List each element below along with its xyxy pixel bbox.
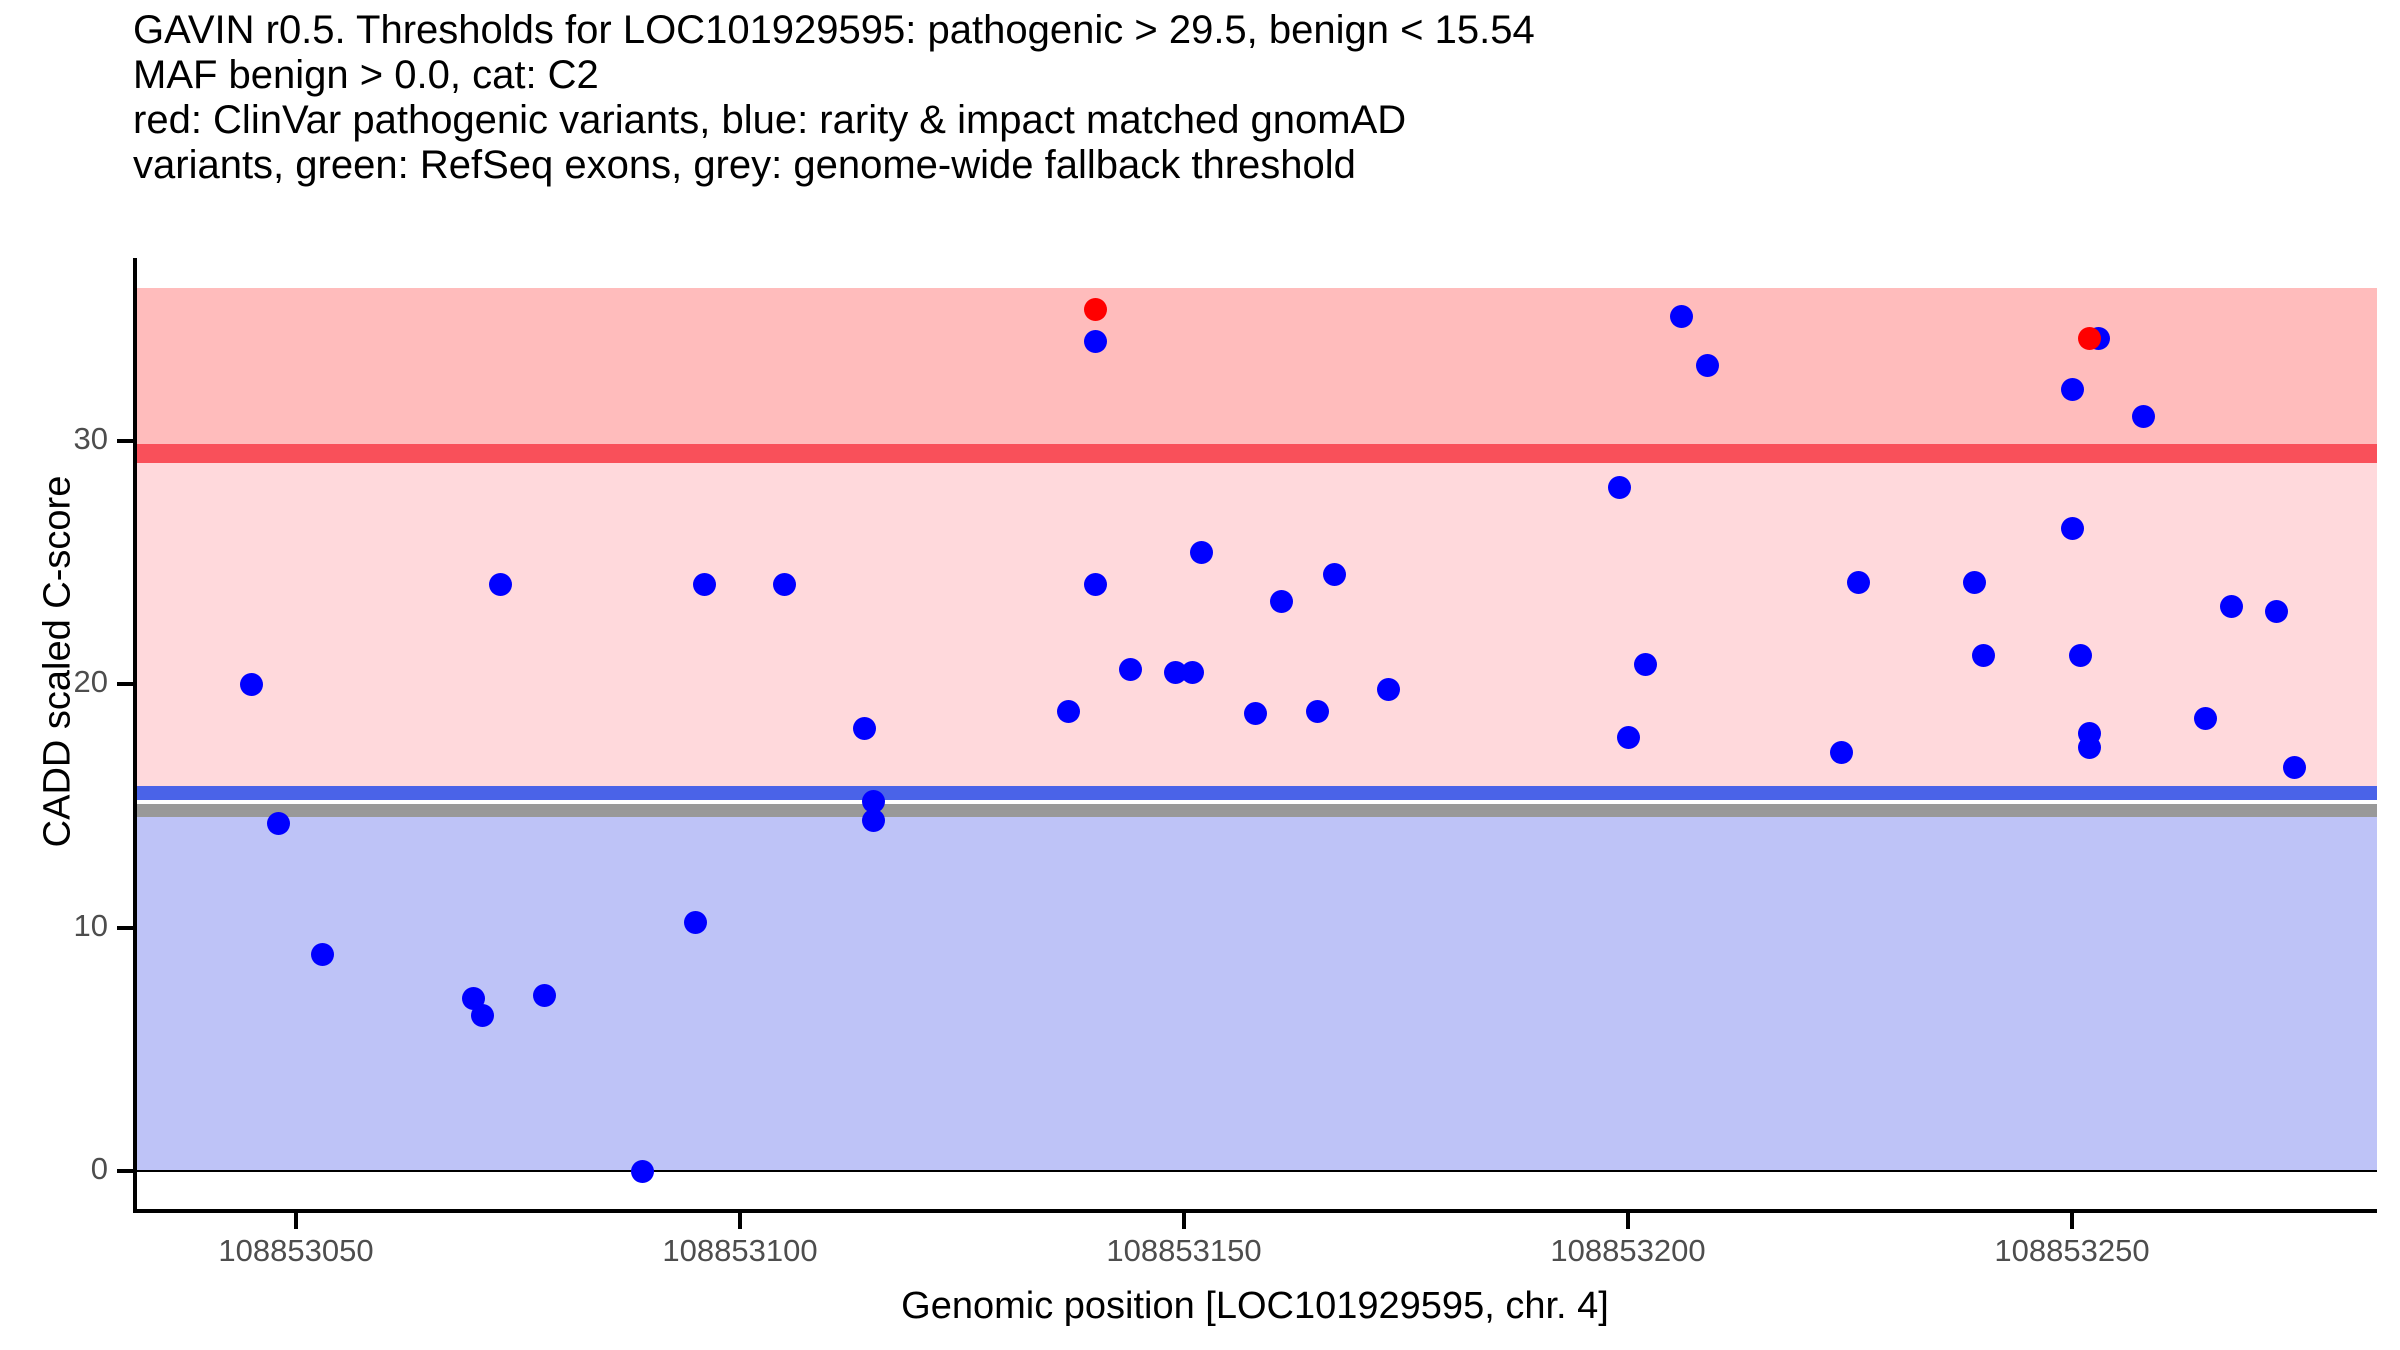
- data-point-gnomad: [1608, 476, 1631, 499]
- x-tick-108853200: [1626, 1213, 1630, 1229]
- x-tick-108853100: [738, 1213, 742, 1229]
- data-point-gnomad: [489, 573, 512, 596]
- y-axis-line: [133, 258, 137, 1213]
- x-tick-label-108853200: 108853200: [1498, 1233, 1758, 1269]
- data-point-gnomad: [1057, 700, 1080, 723]
- y-axis-title: CADD scaled C-score: [37, 352, 80, 972]
- threshold-line-genome-wide-fallback: [133, 804, 2377, 817]
- data-point-pathogenic: [1084, 298, 1107, 321]
- data-point-gnomad: [267, 812, 290, 835]
- x-axis-line: [133, 1209, 2377, 1213]
- data-point-gnomad: [2132, 405, 2155, 428]
- data-point-gnomad: [1306, 700, 1329, 723]
- plot-title-line-2: MAF benign > 0.0, cat: C2: [133, 53, 2373, 98]
- threshold-line-pathogenic: [133, 444, 2377, 463]
- x-axis-title: Genomic position [LOC101929595, chr. 4]: [133, 1285, 2377, 1328]
- band-pathogenic: [133, 288, 2377, 453]
- data-point-gnomad: [1670, 305, 1693, 328]
- plot-title: GAVIN r0.5. Thresholds for LOC101929595:…: [133, 8, 2373, 188]
- data-point-gnomad: [1244, 702, 1267, 725]
- data-point-gnomad: [1084, 330, 1107, 353]
- x-tick-108853250: [2070, 1213, 2074, 1229]
- data-point-gnomad: [1847, 571, 1870, 594]
- y-tick-10: [117, 926, 133, 930]
- plot-title-line-4: variants, green: RefSeq exons, grey: gen…: [133, 143, 2373, 188]
- threshold-bands: [133, 258, 2377, 1213]
- x-tick-108853150: [1182, 1213, 1186, 1229]
- data-point-gnomad: [1377, 678, 1400, 701]
- data-point-gnomad: [1972, 644, 1995, 667]
- data-point-gnomad: [2283, 756, 2306, 779]
- x-tick-label-108853150: 108853150: [1054, 1233, 1314, 1269]
- data-point-gnomad: [1963, 571, 1986, 594]
- data-point-gnomad: [862, 809, 885, 832]
- y-tick-label-0: 0: [0, 1151, 108, 1187]
- plot-title-line-1: GAVIN r0.5. Thresholds for LOC101929595:…: [133, 8, 2373, 53]
- data-point-gnomad: [2265, 600, 2288, 623]
- data-point-gnomad: [631, 1160, 654, 1183]
- data-point-gnomad: [773, 573, 796, 596]
- threshold-line-benign: [133, 786, 2377, 800]
- data-point-gnomad: [471, 1004, 494, 1027]
- y-zero-line: [133, 1170, 2377, 1172]
- data-point-gnomad: [1181, 661, 1204, 684]
- x-tick-label-108853100: 108853100: [610, 1233, 870, 1269]
- band-vous: [133, 453, 2377, 793]
- data-point-gnomad: [1084, 573, 1107, 596]
- data-point-gnomad: [2061, 378, 2084, 401]
- y-tick-20: [117, 682, 133, 686]
- data-point-gnomad: [693, 573, 716, 596]
- x-tick-label-108853050: 108853050: [166, 1233, 426, 1269]
- data-point-gnomad: [2061, 517, 2084, 540]
- gavin-cadd-scatter-plot: GAVIN r0.5. Thresholds for LOC101929595:…: [0, 0, 2400, 1350]
- data-point-gnomad: [853, 717, 876, 740]
- data-point-gnomad: [240, 673, 263, 696]
- data-point-gnomad: [311, 943, 334, 966]
- x-tick-label-108853250: 108853250: [1942, 1233, 2202, 1269]
- plot-title-line-3: red: ClinVar pathogenic variants, blue: …: [133, 98, 2373, 143]
- data-point-gnomad: [2069, 644, 2092, 667]
- y-tick-30: [117, 439, 133, 443]
- data-point-gnomad: [2194, 707, 2217, 730]
- plot-panel: [133, 258, 2377, 1213]
- data-point-gnomad: [1617, 726, 1640, 749]
- x-tick-108853050: [294, 1213, 298, 1229]
- data-point-gnomad: [1830, 741, 1853, 764]
- y-tick-0: [117, 1169, 133, 1173]
